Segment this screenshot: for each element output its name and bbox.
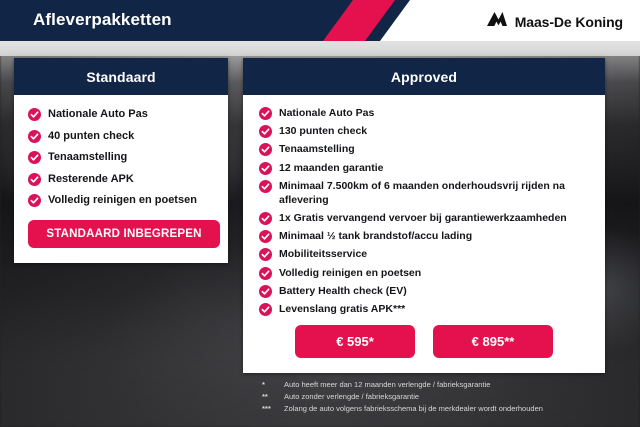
feature-text: Tenaamstelling <box>48 150 127 165</box>
list-item: Nationale Auto Pas <box>28 107 214 122</box>
package-card-approved: Approved Nationale Auto Pas 130 punten c… <box>243 58 605 373</box>
package-body-standaard: Nationale Auto Pas 40 punten check Tenaa… <box>14 95 228 248</box>
check-circle-icon <box>28 173 41 186</box>
price-button-595[interactable]: € 595* <box>295 325 415 358</box>
brand-lockup: Maas-De Koning <box>486 11 623 32</box>
header-pink-wedge <box>323 0 395 41</box>
feature-text: 130 punten check <box>279 124 367 138</box>
feature-text: Resterende APK <box>48 172 134 187</box>
check-circle-icon <box>259 267 272 280</box>
list-item: 1x Gratis vervangend vervoer bij garanti… <box>259 211 589 225</box>
list-item: Nationale Auto Pas <box>259 106 589 120</box>
package-card-standaard: Standaard Nationale Auto Pas 40 punten c… <box>14 58 228 263</box>
feature-text: Levenslang gratis APK*** <box>279 302 405 316</box>
check-circle-icon <box>259 125 272 138</box>
feature-text: 12 maanden garantie <box>279 161 383 175</box>
check-circle-icon <box>28 130 41 143</box>
check-circle-icon <box>259 285 272 298</box>
page-header: Afleverpakketten Maas-De Koning <box>0 0 640 41</box>
feature-text: Nationale Auto Pas <box>48 107 148 122</box>
page-title: Afleverpakketten <box>33 10 172 30</box>
maas-de-koning-m-logo-icon <box>486 11 508 32</box>
feature-text: 40 punten check <box>48 129 134 144</box>
price-button-row: € 595* € 895** <box>259 325 589 358</box>
footnote-text: Auto heeft meer dan 12 maanden verlengde… <box>284 380 490 390</box>
brand-name: Maas-De Koning <box>515 14 623 30</box>
package-title-standaard: Standaard <box>86 69 155 85</box>
list-item: Volledig reinigen en poetsen <box>259 266 589 280</box>
background-top-band <box>0 40 640 56</box>
feature-text: Mobiliteitsservice <box>279 247 367 261</box>
footnote-row: ** Auto zonder verlengde / fabrieksgaran… <box>262 392 602 402</box>
footnote-marker: *** <box>262 404 284 414</box>
check-circle-icon <box>259 162 272 175</box>
price-button-895[interactable]: € 895** <box>433 325 553 358</box>
check-circle-icon <box>259 212 272 225</box>
list-item: Tenaamstelling <box>28 150 214 165</box>
footnote-text: Auto zonder verlengde / fabrieksgarantie <box>284 392 419 402</box>
feature-text: Volledig reinigen en poetsen <box>48 193 197 208</box>
feature-list-standaard: Nationale Auto Pas 40 punten check Tenaa… <box>28 107 214 208</box>
list-item: Mobiliteitsservice <box>259 247 589 261</box>
list-item: 12 maanden garantie <box>259 161 589 175</box>
footnote-marker: * <box>262 380 284 390</box>
list-item: Resterende APK <box>28 172 214 187</box>
check-circle-icon <box>259 248 272 261</box>
feature-text: Battery Health check (EV) <box>279 284 407 298</box>
standaard-inbegrepen-button[interactable]: STANDAARD INBEGREPEN <box>28 220 220 248</box>
feature-text: Volledig reinigen en poetsen <box>279 266 421 280</box>
package-title-approved: Approved <box>391 69 457 85</box>
footnote-row: * Auto heeft meer dan 12 maanden verleng… <box>262 380 602 390</box>
footnote-text: Zolang de auto volgens fabrieksschema bi… <box>284 404 543 414</box>
check-circle-icon <box>28 108 41 121</box>
package-card-header-standaard: Standaard <box>14 58 228 95</box>
list-item: 40 punten check <box>28 129 214 144</box>
check-circle-icon <box>259 143 272 156</box>
list-item: Minimaal 7.500km of 6 maanden onderhouds… <box>259 179 589 207</box>
package-body-approved: Nationale Auto Pas 130 punten check Tena… <box>243 95 605 358</box>
check-circle-icon <box>28 194 41 207</box>
feature-text: Minimaal 7.500km of 6 maanden onderhouds… <box>279 179 589 207</box>
footnote-marker: ** <box>262 392 284 402</box>
check-circle-icon <box>259 180 272 193</box>
package-card-header-approved: Approved <box>243 58 605 95</box>
footnote-row: *** Zolang de auto volgens fabrieksschem… <box>262 404 602 414</box>
feature-text: Nationale Auto Pas <box>279 106 374 120</box>
footnote-block: * Auto heeft meer dan 12 maanden verleng… <box>262 380 602 416</box>
check-circle-icon <box>259 230 272 243</box>
feature-text: Tenaamstelling <box>279 142 355 156</box>
check-circle-icon <box>259 107 272 120</box>
list-item: Battery Health check (EV) <box>259 284 589 298</box>
feature-list-approved: Nationale Auto Pas 130 punten check Tena… <box>259 106 589 316</box>
list-item: Volledig reinigen en poetsen <box>28 193 214 208</box>
feature-text: Minimaal ½ tank brandstof/accu lading <box>279 229 472 243</box>
feature-text: 1x Gratis vervangend vervoer bij garanti… <box>279 211 567 225</box>
list-item: Tenaamstelling <box>259 142 589 156</box>
list-item: 130 punten check <box>259 124 589 138</box>
list-item: Levenslang gratis APK*** <box>259 302 589 316</box>
slide-root: Afleverpakketten Maas-De Koning Standaar… <box>0 0 640 427</box>
check-circle-icon <box>28 151 41 164</box>
list-item: Minimaal ½ tank brandstof/accu lading <box>259 229 589 243</box>
check-circle-icon <box>259 303 272 316</box>
